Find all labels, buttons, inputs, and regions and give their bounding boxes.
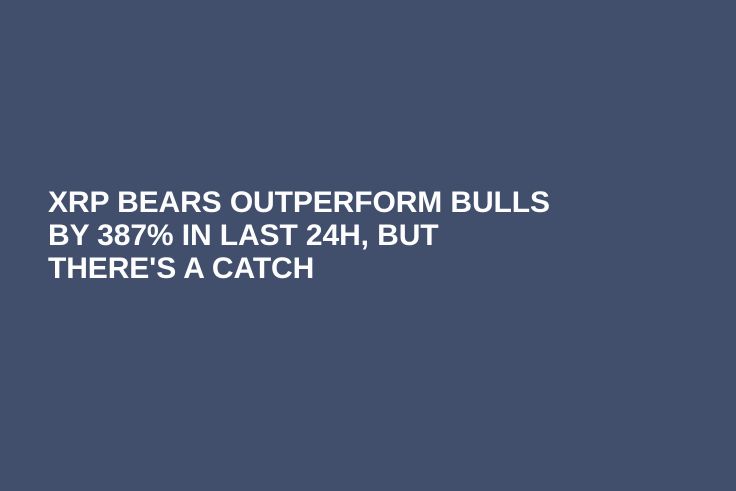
article-headline: XRP BEARS OUTPERFORM BULLS BY 387% IN LA… xyxy=(48,186,688,285)
headline-line-3: THERE'S A CATCH xyxy=(48,252,688,285)
headline-line-2: BY 387% IN LAST 24H, BUT xyxy=(48,219,688,252)
headline-block: XRP BEARS OUTPERFORM BULLS BY 387% IN LA… xyxy=(48,186,688,285)
headline-line-1: XRP BEARS OUTPERFORM BULLS xyxy=(48,186,688,219)
article-hero-banner: XRP BEARS OUTPERFORM BULLS BY 387% IN LA… xyxy=(0,0,736,491)
